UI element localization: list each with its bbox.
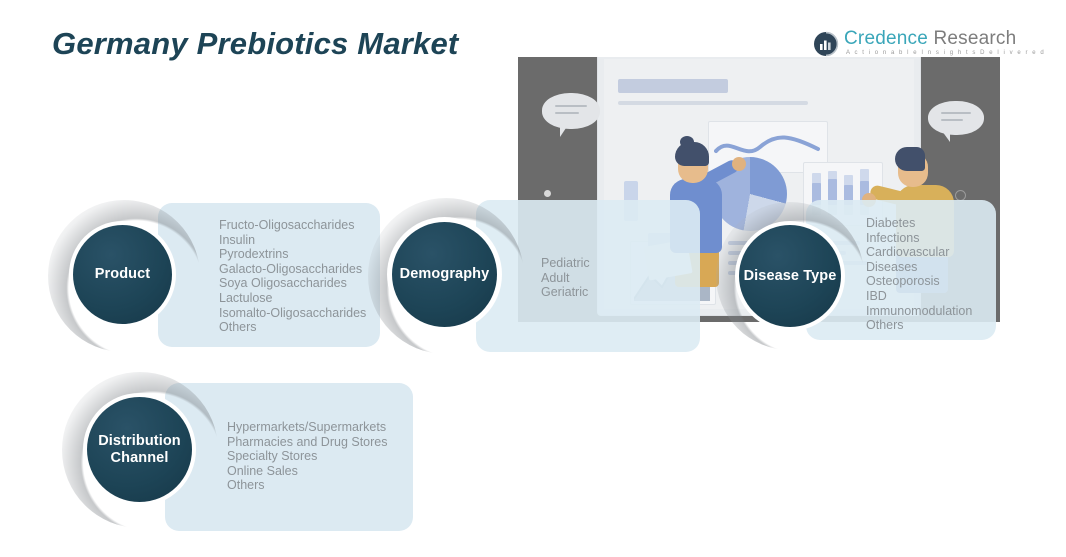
- node-disc-product[interactable]: Product: [73, 225, 172, 324]
- bar-chart-circle-icon: [813, 31, 839, 57]
- brand-name-primary: Credence: [844, 28, 928, 49]
- node-disc-distribution-channel[interactable]: Distribution Channel: [87, 397, 192, 502]
- node-disc-disease-type[interactable]: Disease Type: [739, 225, 841, 327]
- list-demography: Pediatric Adult Geriatric: [541, 256, 691, 300]
- speech-line: [555, 105, 587, 107]
- speech-bubble-right-tail: [942, 131, 950, 142]
- board-title-block: [618, 79, 728, 93]
- speech-bubble-right: [928, 101, 984, 135]
- brand-name: Credence Research: [844, 28, 1016, 50]
- node-demography[interactable]: Demography: [368, 198, 524, 354]
- speech-line: [941, 119, 963, 121]
- brand-name-secondary: Research: [928, 28, 1016, 49]
- presenter-left-hand: [732, 157, 746, 171]
- page-title: Germany Prebiotics Market: [52, 26, 458, 62]
- presenter-left-bun: [680, 136, 694, 148]
- node-label-demography: Demography: [400, 266, 490, 283]
- board-subtitle-line: [618, 101, 808, 105]
- node-label-distribution-channel: Distribution Channel: [98, 433, 181, 467]
- infographic-canvas: Germany Prebiotics Market Credence Resea…: [0, 0, 1066, 557]
- speech-bubble-left: [542, 93, 600, 129]
- node-product[interactable]: Product: [48, 200, 200, 352]
- node-disease-type[interactable]: Disease Type: [716, 202, 864, 350]
- wall-dot-left: [544, 190, 551, 197]
- node-disc-demography[interactable]: Demography: [392, 222, 497, 327]
- presenter-right-hair: [895, 147, 925, 171]
- node-distribution-channel[interactable]: Distribution Channel: [62, 372, 218, 528]
- list-disease-type: Diabetes Infections Cardiovascular Disea…: [866, 216, 1008, 333]
- node-label-disease-type: Disease Type: [744, 268, 837, 285]
- node-label-product: Product: [95, 266, 150, 283]
- brand-tagline: A c t i o n a b l e I n s i g h t s D e …: [846, 50, 1045, 56]
- list-distribution-channel: Hypermarkets/Supermarkets Pharmacies and…: [227, 420, 417, 493]
- speech-bubble-left-tail: [560, 125, 568, 137]
- speech-line: [941, 112, 971, 114]
- speech-line: [555, 112, 579, 114]
